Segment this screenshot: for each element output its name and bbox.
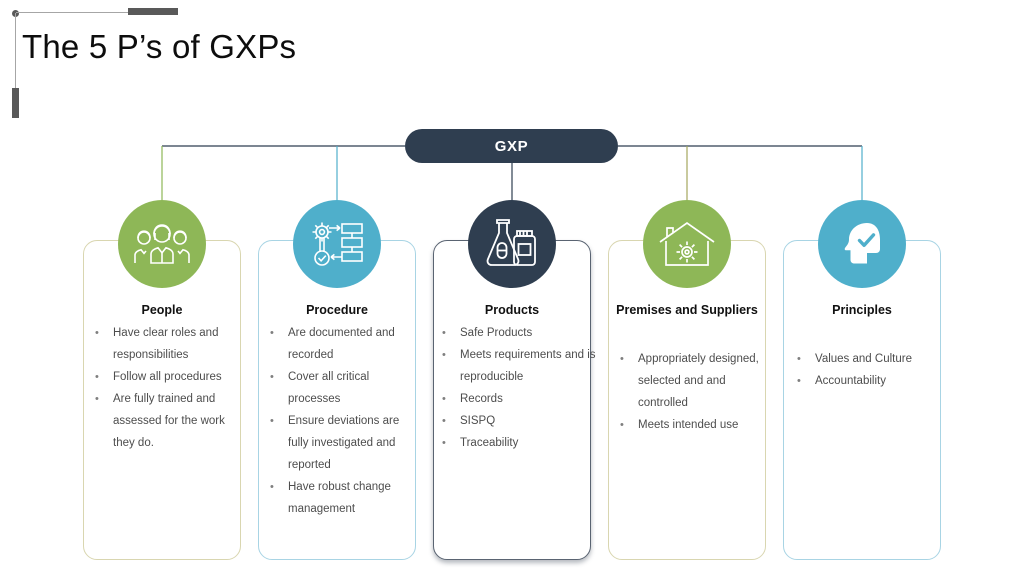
bullets-premises-and-suppliers: Appropriately designed, selected and and…: [618, 348, 768, 436]
list-item: Cover all critical processes: [268, 366, 418, 410]
list-item: Values and Culture: [795, 348, 945, 370]
list-item: Meets intended use: [618, 414, 768, 436]
card-principles[interactable]: [783, 240, 941, 560]
head-checkmark-icon: [837, 219, 887, 269]
heading-procedure: Procedure: [258, 302, 416, 318]
icon-circle-premises-and-suppliers[interactable]: [643, 200, 731, 288]
bullets-people: Have clear roles and responsibilitiesFol…: [93, 322, 243, 454]
bullets-principles: Values and CultureAccountability: [795, 348, 945, 392]
list-item: Are fully trained and assessed for the w…: [93, 388, 243, 454]
list-item: Ensure deviations are fully investigated…: [268, 410, 418, 476]
list-item: Appropriately designed, selected and and…: [618, 348, 768, 414]
list-item: Have clear roles and responsibilities: [93, 322, 243, 366]
people-group-icon: [134, 222, 190, 266]
bullets-products: Safe ProductsMeets requirements and is r…: [440, 322, 596, 454]
list-item: Have robust change management: [268, 476, 418, 520]
icon-circle-procedure[interactable]: [293, 200, 381, 288]
list-item: Traceability: [440, 432, 596, 454]
list-item: SISPQ: [440, 410, 596, 432]
icon-circle-products[interactable]: [468, 200, 556, 288]
list-item: Meets requirements and is reproducible: [440, 344, 596, 388]
icon-circle-principles[interactable]: [818, 200, 906, 288]
icon-circle-people[interactable]: [118, 200, 206, 288]
list-item: Accountability: [795, 370, 945, 392]
list-item: Are documented and recorded: [268, 322, 418, 366]
bullets-procedure: Are documented and recordedCover all cri…: [268, 322, 418, 520]
heading-premises-and-suppliers: Premises and Suppliers: [608, 302, 766, 318]
heading-principles: Principles: [783, 302, 941, 318]
process-flowchart-icon: [309, 219, 365, 269]
list-item: Records: [440, 388, 596, 410]
heading-products: Products: [433, 302, 591, 318]
heading-people: People: [83, 302, 241, 318]
house-gear-icon: [658, 220, 716, 268]
list-item: Follow all procedures: [93, 366, 243, 388]
list-item: Safe Products: [440, 322, 596, 344]
gxp-root-node[interactable]: GXP: [405, 129, 618, 163]
gxp-root-label: GXP: [495, 138, 528, 155]
flask-pill-bottle-icon: [484, 217, 540, 271]
